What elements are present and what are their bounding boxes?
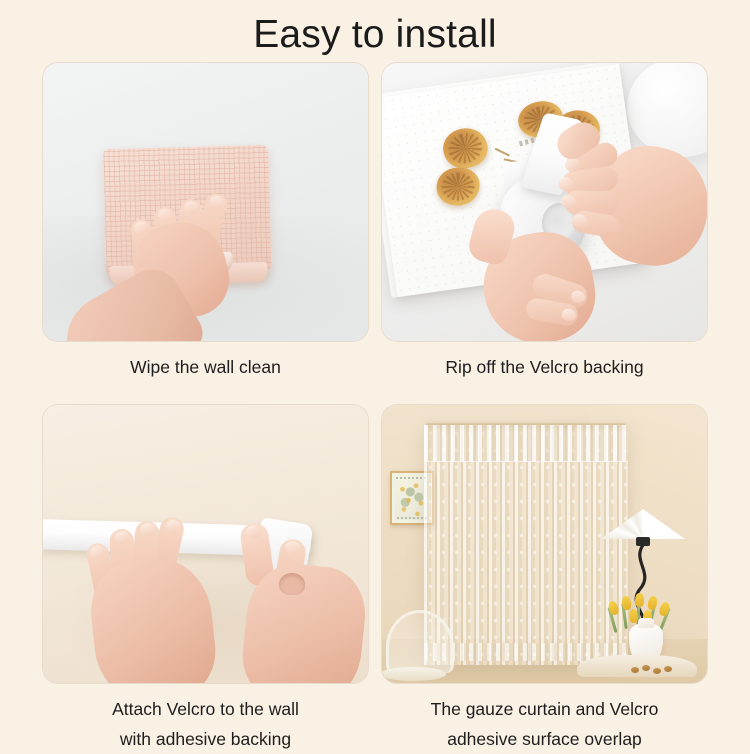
caption-line: Rip off the Velcro backing bbox=[445, 357, 643, 377]
tulip bbox=[647, 595, 658, 610]
hand-pulling bbox=[225, 517, 368, 683]
tulip bbox=[621, 595, 632, 610]
palm bbox=[86, 553, 220, 683]
caption-line: The gauze curtain and Velcro bbox=[431, 699, 659, 719]
steps-grid: Wipe the wall clean bbox=[43, 63, 707, 743]
attach-velcro-photo bbox=[43, 405, 368, 683]
step-card-4: The gauze curtain and Velcro adhesive su… bbox=[382, 405, 707, 754]
step-card-2: Rip off the Velcro backing bbox=[382, 63, 707, 382]
gauze-curtain-photo bbox=[382, 405, 707, 683]
tulip bbox=[658, 601, 671, 617]
caption-line: Wipe the wall clean bbox=[130, 357, 281, 377]
page-title: Easy to install bbox=[0, 12, 750, 58]
snack-pieces bbox=[631, 665, 677, 675]
step-caption-2: Rip off the Velcro backing bbox=[382, 352, 707, 382]
tulip bbox=[629, 609, 639, 624]
step-card-1: Wipe the wall clean bbox=[43, 63, 368, 382]
wipe-wall-photo bbox=[43, 63, 368, 341]
step-caption-1: Wipe the wall clean bbox=[43, 352, 368, 382]
curtain-valance bbox=[424, 425, 628, 462]
step-card-3: Attach Velcro to the wall with adhesive … bbox=[43, 405, 368, 754]
tulip bbox=[635, 593, 644, 607]
step-caption-3: Attach Velcro to the wall with adhesive … bbox=[43, 694, 368, 754]
step-caption-4: The gauze curtain and Velcro adhesive su… bbox=[382, 694, 707, 754]
art-caption-bottom bbox=[397, 517, 427, 519]
product-instruction-page: Easy to install Wipe the wall clean bbox=[0, 0, 750, 750]
caption-line: Attach Velcro to the wall bbox=[112, 699, 299, 719]
hand-wiping bbox=[91, 189, 261, 341]
hand-holding-roll bbox=[462, 213, 632, 341]
chair-seat bbox=[382, 667, 446, 681]
finger-gap bbox=[279, 573, 305, 595]
rip-velcro-backing-photo bbox=[382, 63, 707, 341]
